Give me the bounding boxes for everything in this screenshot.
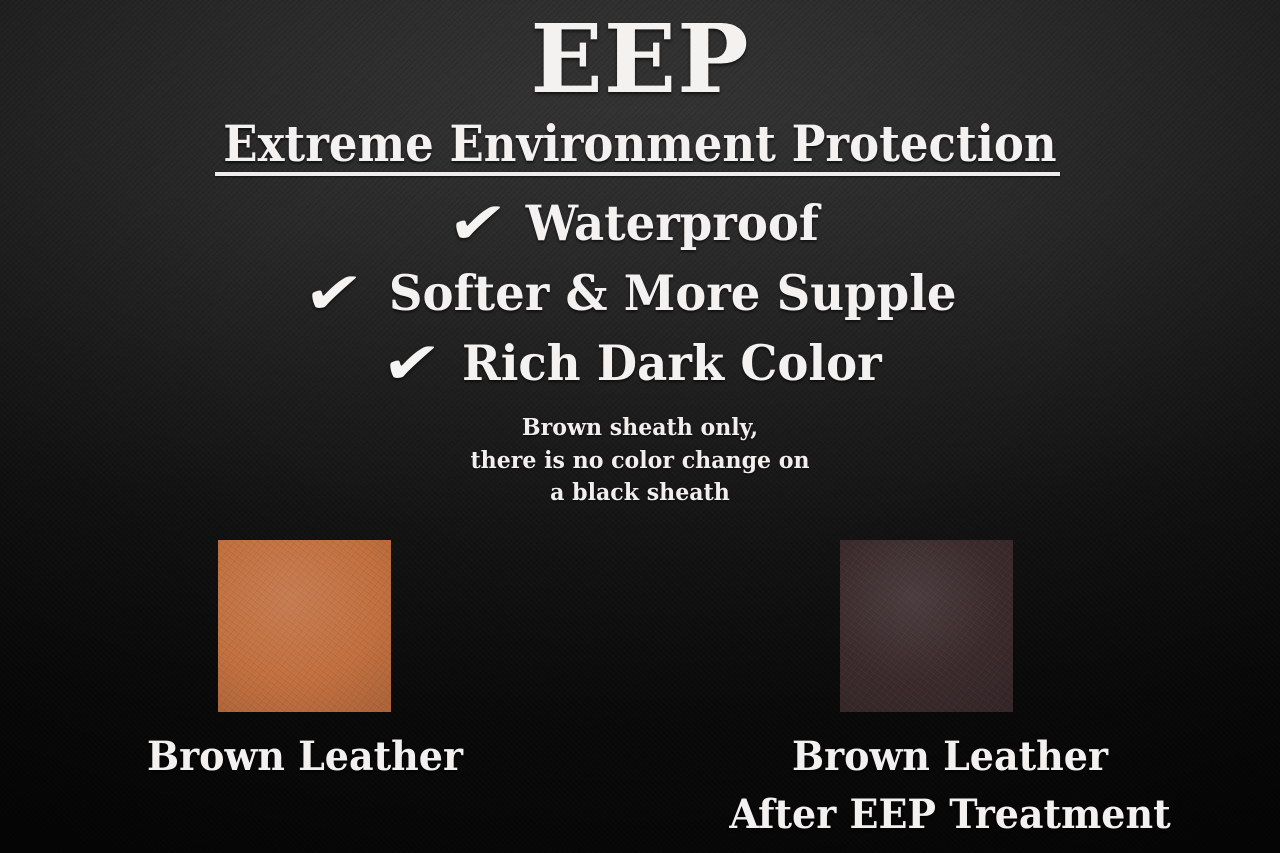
caption-line: Brown Leather bbox=[694, 728, 1207, 786]
fineprint-line: there is no color change on bbox=[26, 445, 1255, 478]
benefit-list: ✔ Waterproof ✔ Softer & More Supple ✔ Ri… bbox=[0, 190, 1280, 400]
checkmark-icon: ✔ bbox=[301, 264, 366, 322]
subtitle-container: Extreme Environment Protection bbox=[0, 118, 1280, 171]
leather-sheen bbox=[218, 540, 391, 712]
fineprint-note: Brown sheath only, there is no color cha… bbox=[0, 412, 1280, 510]
checkmark-icon: ✔ bbox=[445, 194, 510, 252]
fineprint-line: a black sheath bbox=[26, 477, 1255, 510]
page-title: EEP bbox=[0, 12, 1280, 107]
caption-line: Brown Leather bbox=[72, 728, 538, 786]
swatch-caption-untreated: Brown Leather bbox=[60, 728, 550, 786]
benefit-label: Rich Dark Color bbox=[462, 330, 882, 396]
leather-sheen bbox=[840, 540, 1013, 712]
benefit-item-softer: ✔ Softer & More Supple bbox=[0, 260, 1280, 326]
eep-promo-poster: EEP Extreme Environment Protection ✔ Wat… bbox=[0, 0, 1280, 853]
fineprint-line: Brown sheath only, bbox=[26, 412, 1255, 445]
leather-swatch-treated bbox=[840, 540, 1013, 712]
subtitle: Extreme Environment Protection bbox=[223, 118, 1056, 171]
benefit-label: Softer & More Supple bbox=[389, 260, 957, 326]
checkmark-icon: ✔ bbox=[379, 334, 444, 392]
benefit-label: Waterproof bbox=[526, 190, 819, 256]
caption-line: After EEP Treatment bbox=[694, 786, 1207, 844]
benefit-item-waterproof: ✔ Waterproof bbox=[0, 190, 1280, 256]
benefit-item-rich-dark-color: ✔ Rich Dark Color bbox=[0, 330, 1280, 396]
leather-swatch-untreated bbox=[218, 540, 391, 712]
subtitle-underline bbox=[215, 172, 1060, 176]
swatch-caption-treated: Brown Leather After EEP Treatment bbox=[680, 728, 1220, 844]
